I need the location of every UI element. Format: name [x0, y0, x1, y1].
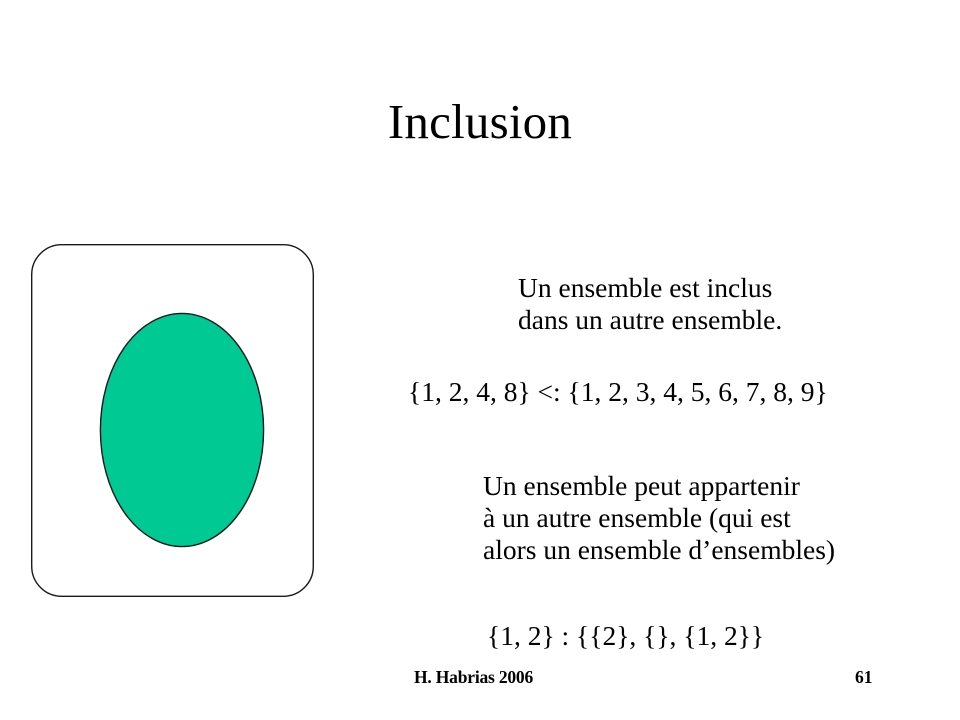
paragraph-inclusion-line-1: Un ensemble est inclus [518, 272, 782, 304]
paragraph-inclusion-line-2: dans un autre ensemble. [518, 304, 782, 336]
page-title: Inclusion [0, 96, 960, 147]
footer-author: H. Habrias 2006 [414, 667, 533, 688]
expression-membership: {1, 2} : {{2}, {}, {1, 2}} [487, 620, 764, 652]
paragraph-membership-line-2: à un autre ensemble (qui est [483, 502, 835, 534]
paragraph-membership-line-3: alors un ensemble d’ensembles) [483, 534, 835, 566]
inner-set-ellipse-icon [99, 312, 265, 548]
inner-set-shape [99, 312, 265, 548]
slide: Inclusion Un ensemble est inclus dans un… [0, 0, 960, 720]
paragraph-membership-line-1: Un ensemble peut appartenir [483, 470, 835, 502]
footer-page-number: 61 [855, 667, 873, 688]
paragraph-membership: Un ensemble peut appartenir à un autre e… [483, 470, 835, 566]
expression-inclusion: {1, 2, 4, 8} <: {1, 2, 3, 4, 5, 6, 7, 8,… [408, 376, 828, 408]
inclusion-venn-diagram [31, 244, 314, 597]
paragraph-inclusion: Un ensemble est inclus dans un autre ens… [518, 272, 782, 336]
